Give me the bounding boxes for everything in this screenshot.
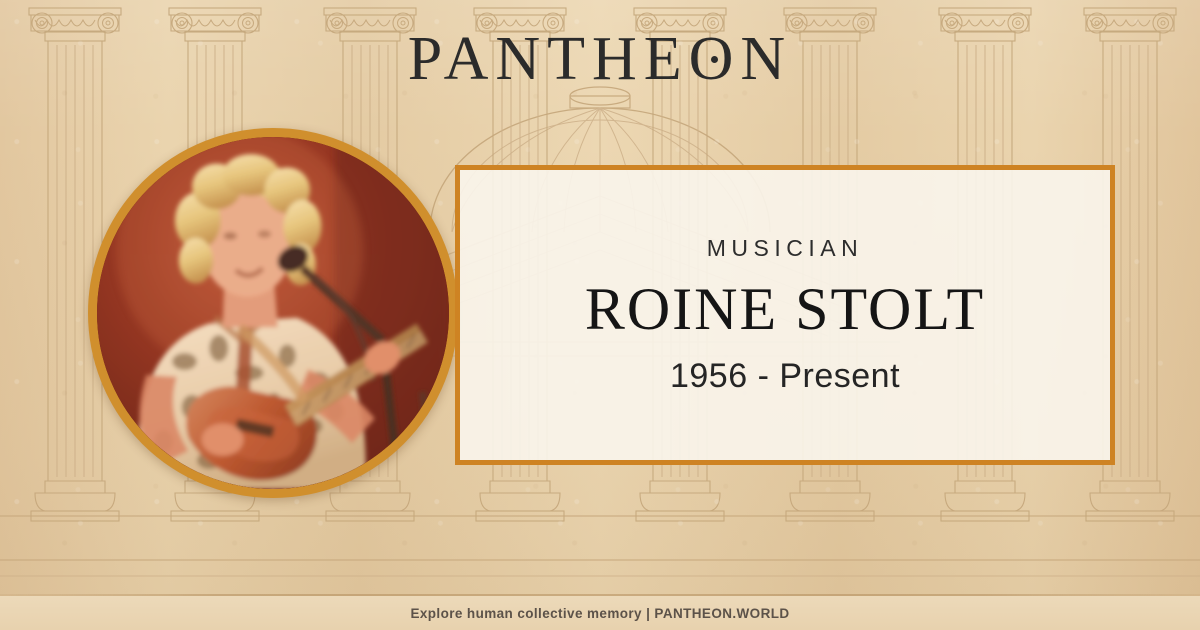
pantheon-share-card: PANTHEON bbox=[0, 0, 1200, 630]
page-title-part-before: PANTHE bbox=[408, 25, 689, 93]
page-title: PANTHEON bbox=[0, 24, 1200, 95]
occupation-label: MUSICIAN bbox=[707, 235, 863, 262]
portrait-photo bbox=[97, 137, 449, 489]
page-title-dotted-o: O bbox=[689, 24, 741, 95]
footer-tagline: Explore human collective memory | PANTHE… bbox=[0, 596, 1200, 630]
page-title-part-after: N bbox=[740, 25, 792, 93]
lifespan-label: 1956 - Present bbox=[670, 357, 900, 396]
person-name: ROINE STOLT bbox=[585, 278, 985, 341]
avatar bbox=[88, 128, 458, 498]
oculus-dot-icon bbox=[711, 56, 718, 63]
stylobate bbox=[0, 516, 1200, 576]
person-info-card: MUSICIAN ROINE STOLT 1956 - Present bbox=[455, 165, 1115, 465]
